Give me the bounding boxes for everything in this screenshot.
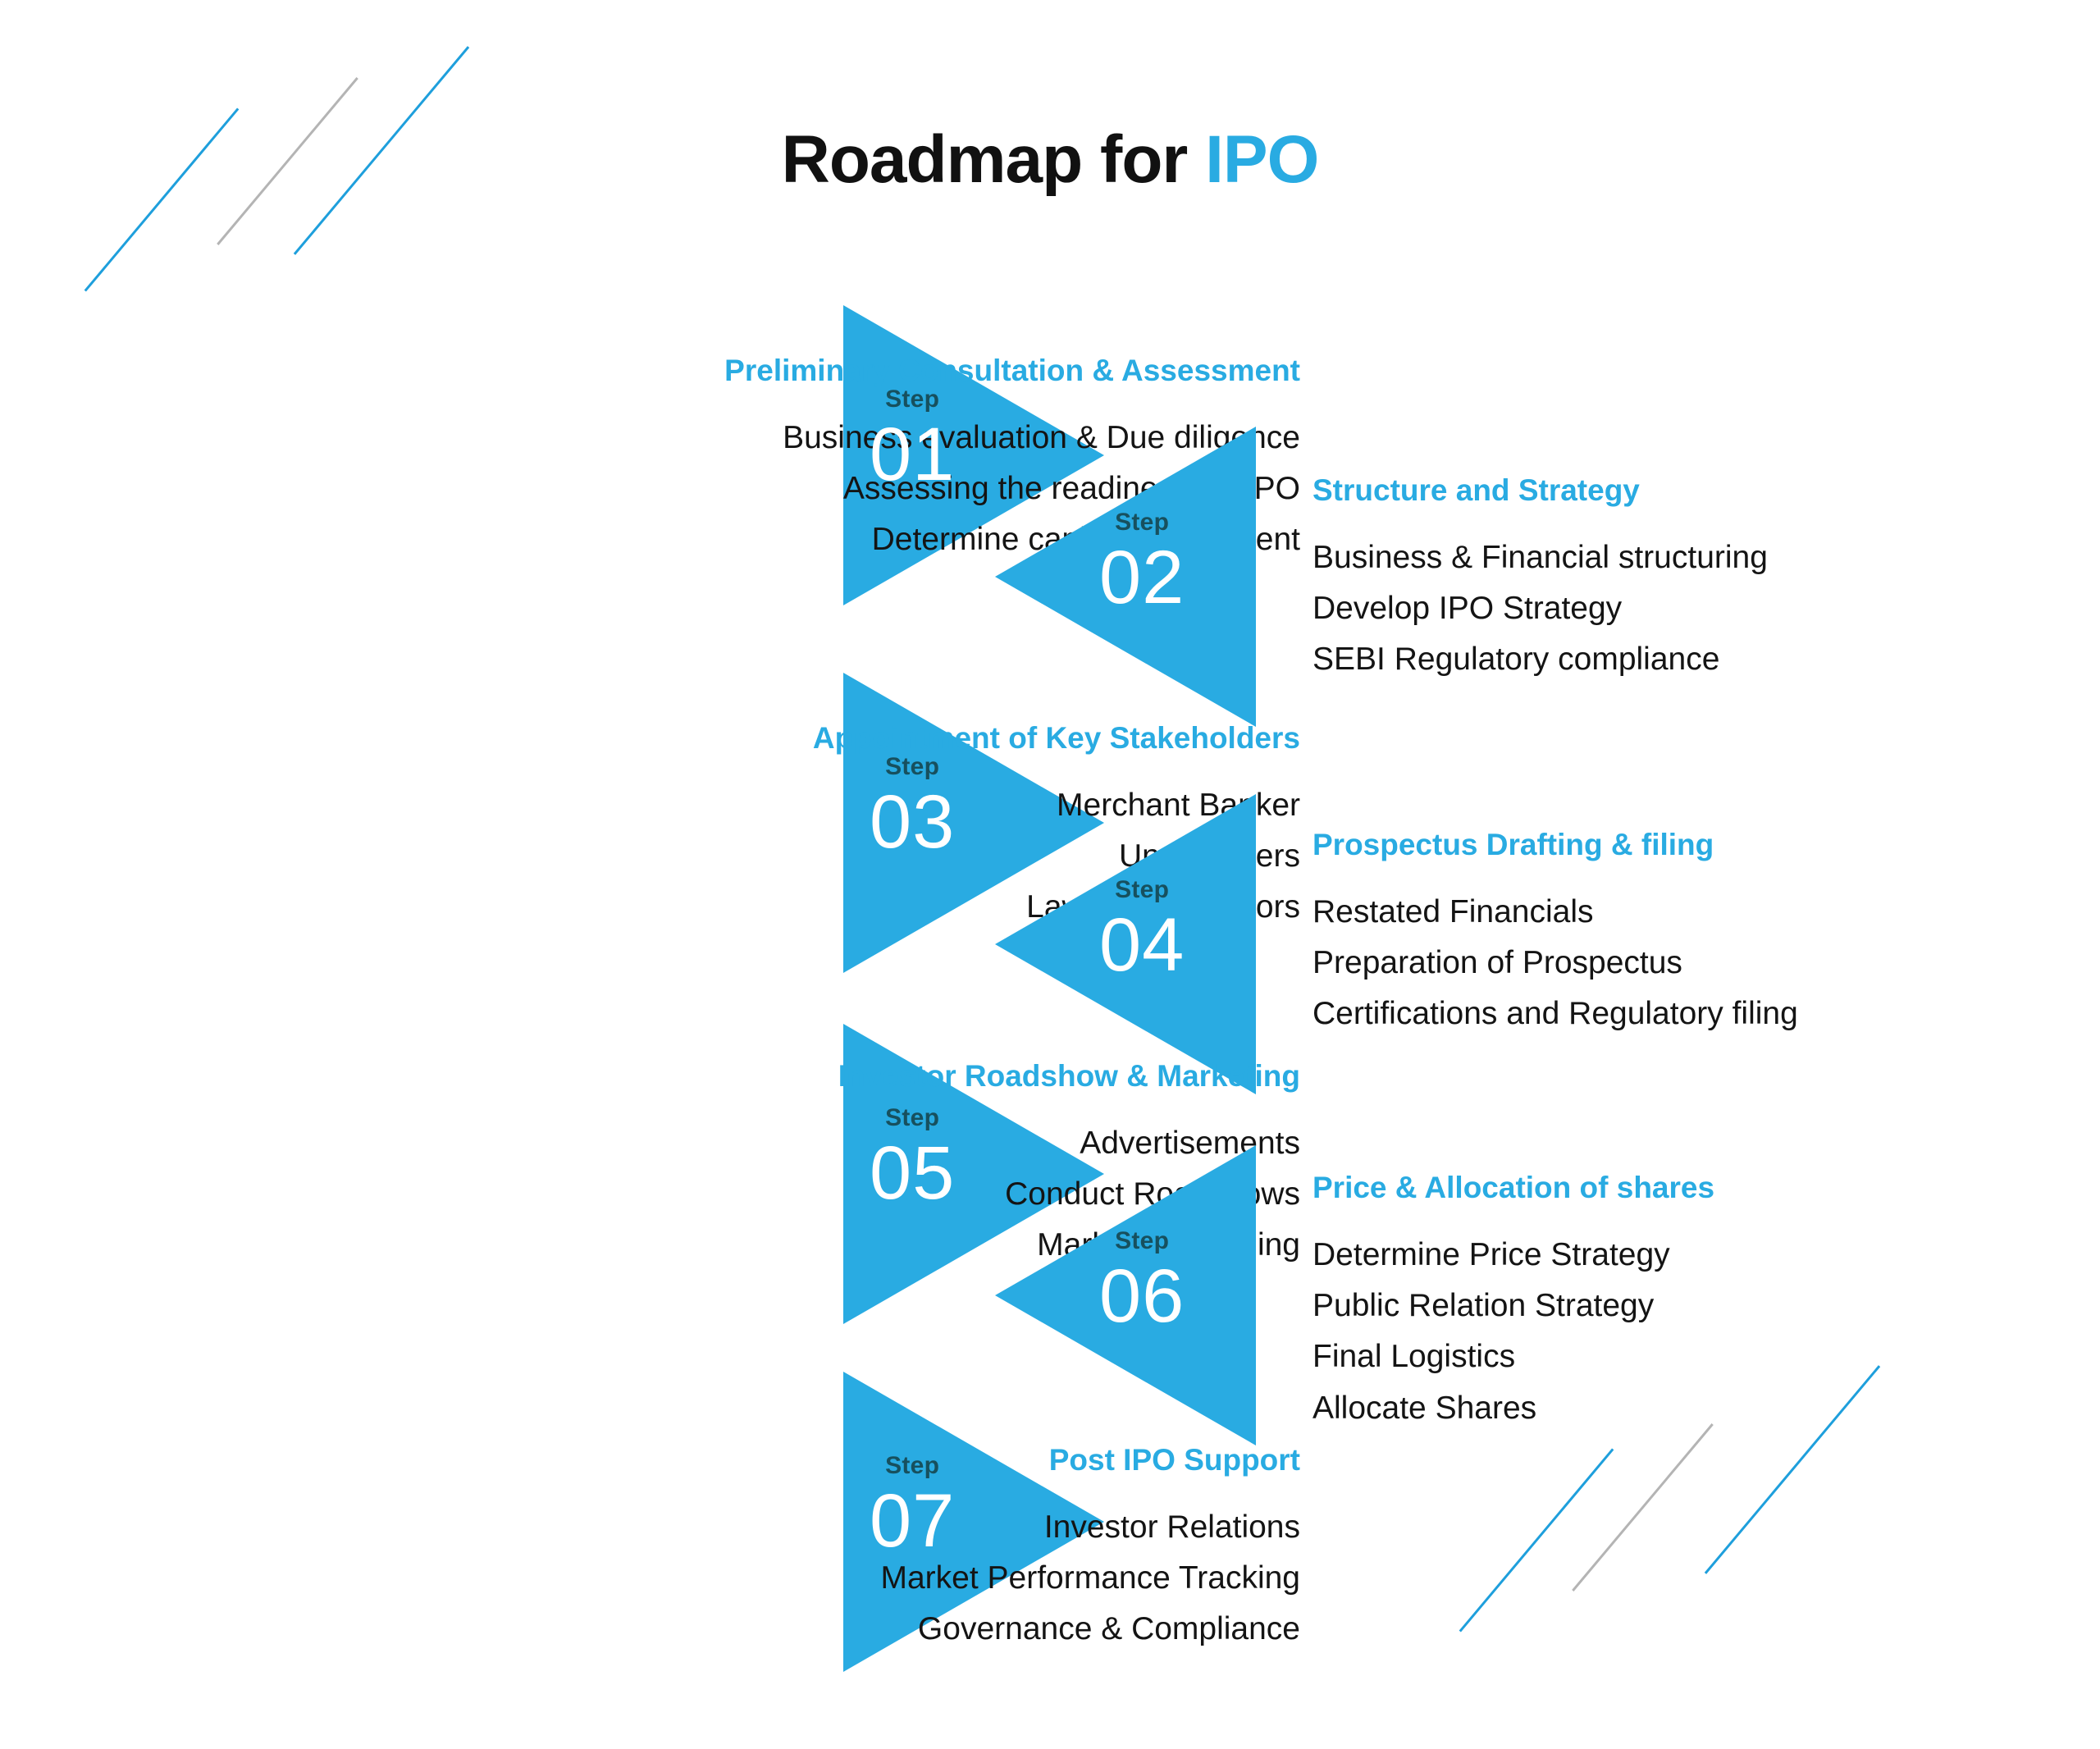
step-number-03: 03 bbox=[870, 784, 955, 860]
step-heading-07: Post IPO Support bbox=[0, 1444, 1300, 1477]
step-item: Determine Price Strategy bbox=[1312, 1230, 2100, 1281]
step-label-06: Step06 bbox=[1099, 1229, 1185, 1334]
step-item: Investor Relations bbox=[0, 1502, 1300, 1553]
step-item-list-02: Business & Financial structuringDevelop … bbox=[1312, 532, 2100, 686]
step-item-list-06: Determine Price StrategyPublic Relation … bbox=[1312, 1230, 2100, 1435]
step-item: Preparation of Prospectus bbox=[1312, 938, 2100, 989]
step-number-07: 07 bbox=[870, 1483, 955, 1559]
step-label-03: Step03 bbox=[870, 755, 955, 860]
step-item: Develop IPO Strategy bbox=[1312, 583, 2100, 634]
step-item-list-07: Investor RelationsMarket Performance Tra… bbox=[0, 1502, 1300, 1655]
step-content-07: Post IPO SupportInvestor RelationsMarket… bbox=[0, 1444, 1300, 1655]
step-content-06: Price & Allocation of sharesDetermine Pr… bbox=[1312, 1171, 2100, 1434]
step-word-03: Step bbox=[870, 755, 955, 779]
step-item: Final Logistics bbox=[1312, 1331, 2100, 1382]
step-number-05: 05 bbox=[870, 1135, 955, 1211]
step-word-06: Step bbox=[1099, 1229, 1185, 1254]
step-heading-05: Investor Roadshow & Marketing bbox=[0, 1060, 1300, 1094]
step-item: Restated Financials bbox=[1312, 887, 2100, 938]
step-item: SEBI Regulatory compliance bbox=[1312, 634, 2100, 685]
step-word-05: Step bbox=[870, 1106, 955, 1130]
step-label-02: Step02 bbox=[1099, 510, 1185, 615]
step-item: Business & Financial structuring bbox=[1312, 532, 2100, 583]
step-label-05: Step05 bbox=[870, 1106, 955, 1211]
step-number-06: 06 bbox=[1099, 1258, 1185, 1334]
step-item: Market Performance Tracking bbox=[0, 1553, 1300, 1604]
step-item: Allocate Shares bbox=[1312, 1383, 2100, 1434]
step-heading-06: Price & Allocation of shares bbox=[1312, 1171, 2100, 1205]
step-word-07: Step bbox=[870, 1454, 955, 1478]
step-word-02: Step bbox=[1099, 510, 1185, 535]
step-item: Certifications and Regulatory filing bbox=[1312, 989, 2100, 1039]
step-content-02: Structure and StrategyBusiness & Financi… bbox=[1312, 474, 2100, 686]
step-content-04: Prospectus Drafting & filingRestated Fin… bbox=[1312, 829, 2100, 1040]
step-label-04: Step04 bbox=[1099, 878, 1185, 983]
step-heading-01: Preliminary Consultation & Assessment bbox=[0, 354, 1300, 388]
step-item-list-04: Restated FinancialsPreparation of Prospe… bbox=[1312, 887, 2100, 1040]
step-heading-02: Structure and Strategy bbox=[1312, 474, 2100, 508]
step-label-07: Step07 bbox=[870, 1454, 955, 1559]
step-number-01: 01 bbox=[870, 417, 955, 492]
step-word-04: Step bbox=[1099, 878, 1185, 902]
step-number-04: 04 bbox=[1099, 907, 1185, 983]
step-heading-03: Appointment of Key Stakeholders bbox=[0, 722, 1300, 756]
step-number-02: 02 bbox=[1099, 540, 1185, 615]
step-heading-04: Prospectus Drafting & filing bbox=[1312, 829, 2100, 862]
roadmap-steps-stage: Step01Preliminary Consultation & Assessm… bbox=[0, 0, 2100, 1749]
step-label-01: Step01 bbox=[870, 387, 955, 492]
step-item: Governance & Compliance bbox=[0, 1604, 1300, 1655]
step-item: Public Relation Strategy bbox=[1312, 1281, 2100, 1331]
step-word-01: Step bbox=[870, 387, 955, 412]
